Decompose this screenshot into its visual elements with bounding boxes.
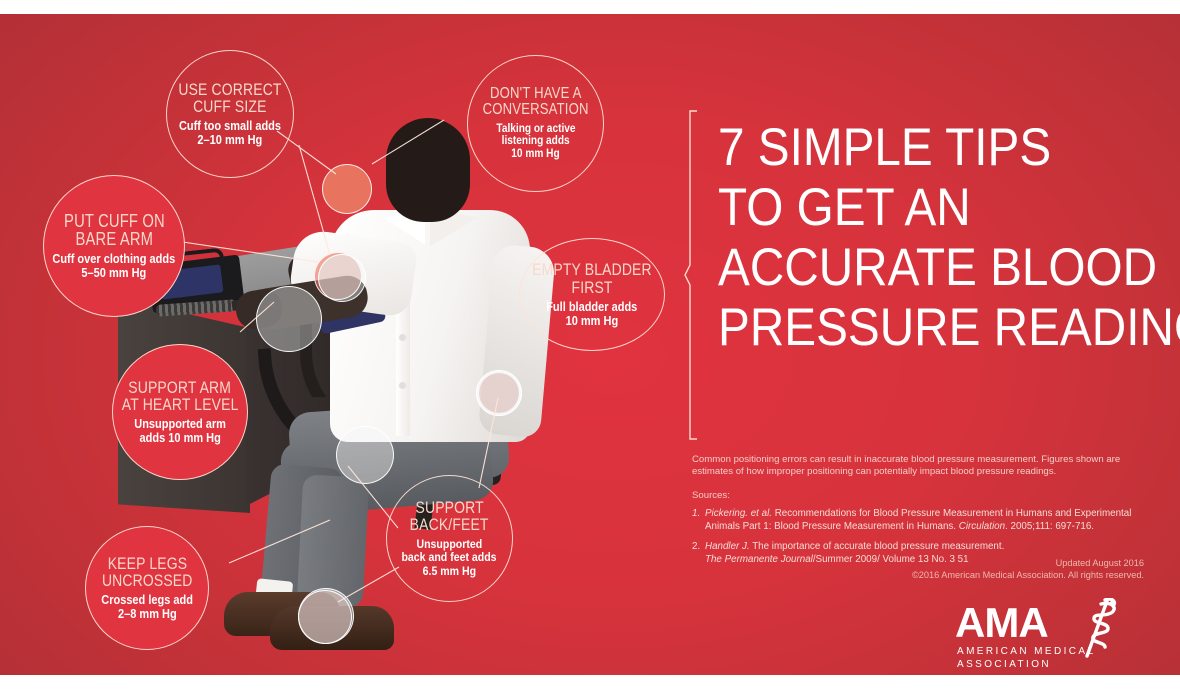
tip-bubble-use-correct-cuff-size[interactable]: USE CORRECT CUFF SIZE Cuff too small add… [166, 50, 294, 178]
tip-title-line: FIRST [571, 279, 612, 296]
source-author: Handler J. [705, 541, 750, 552]
head-silhouette [386, 118, 470, 222]
source-journal: Circulation [959, 521, 1005, 532]
tip-bubble-dont-have-a-conversation[interactable]: DON'T HAVE A CONVERSATION Talking or act… [467, 55, 604, 192]
poi-circle-arm-support [256, 286, 322, 352]
source-text: Pickering. et al. Recommendations for Bl… [705, 508, 1144, 533]
tip-bubble-put-cuff-on-bare-arm[interactable]: PUT CUFF ON BARE ARM Cuff over clothing … [43, 175, 185, 317]
ama-tagline-line-2: ASSOCIATION [957, 659, 1051, 670]
poi-circle-legs [336, 426, 394, 484]
tip-sub-line: 10 mm Hg [511, 148, 559, 161]
source-rest-b: . 2005;111: 697-716. [1005, 521, 1094, 532]
leg-shin-front [297, 474, 370, 607]
tip-sub-line: 10 mm Hg [566, 314, 619, 328]
tip-title-line: EMPTY BLADDER [532, 261, 652, 278]
tip-title-line: BARE ARM [75, 230, 153, 248]
tip-sub-line: 2–10 mm Hg [198, 133, 263, 147]
tip-title-line: CUFF SIZE [193, 98, 267, 115]
sources-label: Sources: [692, 490, 730, 501]
tip-bubble-empty-bladder-first[interactable]: EMPTY BLADDER FIRST Full bladder adds 10… [519, 238, 665, 351]
footer-meta: Updated August 2016 ©2016 American Medic… [692, 557, 1144, 582]
updated-date: Updated August 2016 [692, 557, 1144, 569]
tip-title-line: SUPPORT [415, 499, 483, 516]
tip-sub-line: Cuff too small adds [179, 119, 281, 133]
ama-logo: AMA AMERICAN MEDICAL ASSOCIATION [955, 602, 1145, 664]
tip-title-line: SUPPORT ARM [129, 379, 232, 396]
source-rest-a: The importance of accurate blood pressur… [750, 541, 1005, 552]
tip-title-line: CONVERSATION [483, 102, 589, 118]
tip-bubble-support-back-feet[interactable]: SUPPORT BACK/FEET Unsupported back and f… [386, 475, 513, 602]
tip-title-line: USE CORRECT [178, 81, 281, 98]
title-line-3: ACCURATE BLOOD [718, 238, 1105, 298]
ama-wordmark: AMA [955, 602, 1048, 644]
poi-circle-back [476, 370, 522, 416]
source-number: 1. [692, 508, 705, 533]
tip-sub-line: Crossed legs add [101, 593, 193, 607]
tip-sub-line: Unsupported arm [134, 417, 226, 431]
tip-sub-line: listening adds [501, 135, 569, 148]
tip-sub-line: Talking or active [496, 123, 575, 136]
caduceus-serpent-staff-icon [1061, 598, 1135, 660]
tip-sub-line: back and feet adds [402, 551, 497, 564]
tip-sub-line: Unsupported [417, 538, 483, 551]
source-author: Pickering. et al. [705, 508, 772, 519]
tip-title-line: KEEP LEGS [107, 555, 186, 572]
brace-decoration [684, 110, 700, 440]
accent-circle-coral [322, 164, 372, 214]
poi-circle-cuff [318, 254, 366, 302]
title-line-1: 7 SIMPLE TIPS [718, 118, 1105, 178]
shirt-button [399, 334, 406, 341]
shirt-button [399, 382, 406, 389]
tip-sub-line: Cuff over clothing adds [53, 252, 176, 266]
tip-title-line: BACK/FEET [410, 516, 489, 533]
title-line-2: TO GET AN [718, 178, 1105, 238]
copyright: ©2016 American Medical Association. All … [692, 569, 1144, 581]
tip-sub-line: 6.5 mm Hg [423, 565, 476, 578]
tip-bubble-keep-legs-uncrossed[interactable]: KEEP LEGS UNCROSSED Crossed legs add 2–8… [85, 526, 209, 650]
tip-title-line: PUT CUFF ON [64, 212, 165, 230]
poi-circle-feet [298, 588, 354, 644]
tip-sub-line: 5–50 mm Hg [82, 266, 147, 280]
infographic-poster: USE CORRECT CUFF SIZE Cuff too small add… [0, 14, 1180, 675]
tip-sub-line: 2–8 mm Hg [118, 607, 177, 621]
tip-title-line: UNCROSSED [102, 572, 193, 589]
intro-blurb: Common positioning errors can result in … [692, 454, 1132, 479]
tip-sub-line: adds 10 mm Hg [139, 431, 220, 445]
tip-title-line: DON'T HAVE A [490, 86, 581, 102]
page-title: 7 SIMPLE TIPS TO GET AN ACCURATE BLOOD P… [718, 118, 1148, 358]
tip-title-line: AT HEART LEVEL [122, 396, 239, 413]
tip-sub-line: Full bladder adds [546, 300, 637, 314]
title-line-4: PRESSURE READING [718, 298, 1105, 358]
source-item: 1. Pickering. et al. Recommendations for… [692, 508, 1144, 533]
tip-bubble-support-arm-at-heart-level[interactable]: SUPPORT ARM AT HEART LEVEL Unsupported a… [112, 344, 248, 480]
